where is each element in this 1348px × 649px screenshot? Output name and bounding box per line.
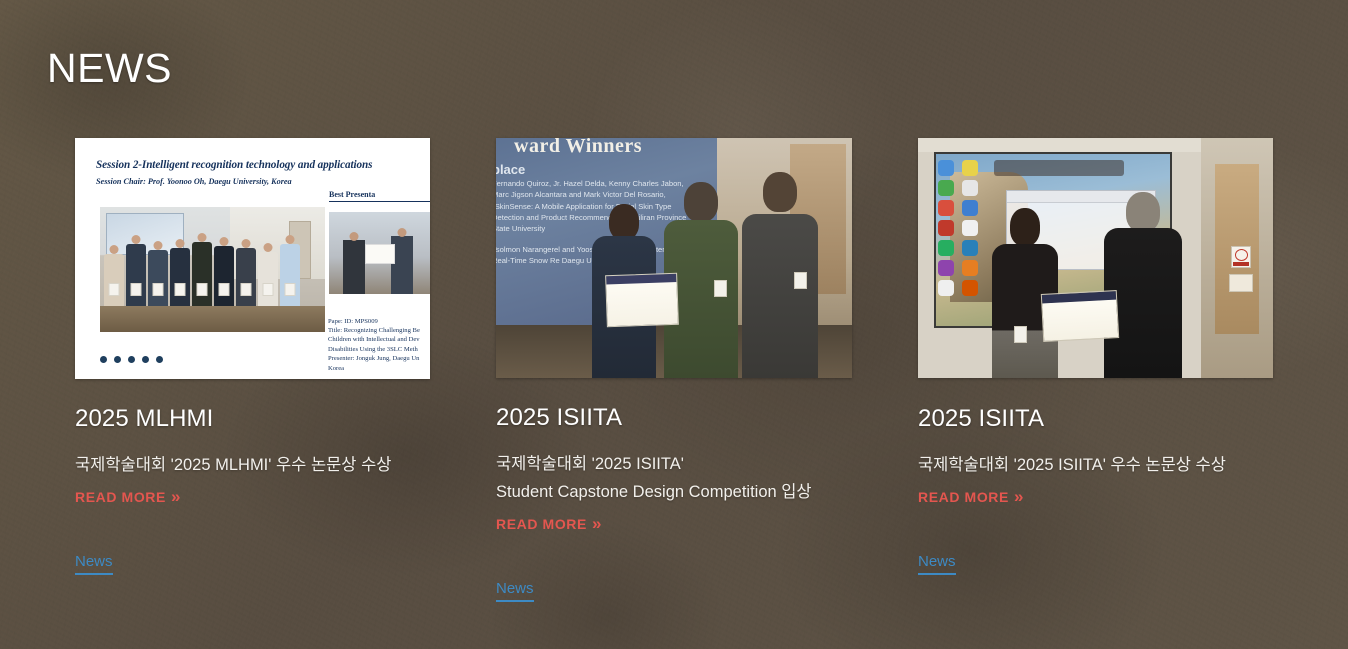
person [170,248,190,306]
carousel-dot[interactable] [100,356,107,363]
news-card-category-link[interactable]: News [918,552,956,575]
news-card-body: 2025 MLHMI 국제학술대회 '2025 MLHMI' 우수 논문상 수상… [75,404,430,575]
application-toolbar [994,160,1124,176]
person [126,244,146,306]
person-head [264,243,273,252]
news-card-description-line: Student Capstone Design Competition 입상 [496,478,852,506]
person [258,252,278,306]
read-more-link[interactable]: READ MORE » [918,488,1021,505]
desktop-icon [938,160,954,176]
conference-session-slide-image: Session 2-Intelligent recognition techno… [75,138,430,379]
read-more-link[interactable]: READ MORE » [75,488,178,505]
person-certificate [109,283,120,296]
news-page: NEWS Session 2-Intelligent recognition t… [0,0,1348,649]
no-entry-sign-icon [1231,246,1251,268]
projected-slide-title: ward Winners [514,138,642,158]
person-body [742,214,818,378]
read-more-label: READ MORE [918,489,1009,505]
name-badge [1014,326,1027,343]
news-card[interactable]: Session 2-Intelligent recognition techno… [75,138,430,379]
person-certificate [175,283,186,296]
desktop-icon [962,180,978,196]
news-card[interactable]: ward Winners place Fernando Quiroz, Jr. … [496,138,852,378]
desktop-icon [938,180,954,196]
desktop-icon [938,260,954,276]
best-presentation-heading: Best Presenta [329,190,430,202]
desktop-icon [962,240,978,256]
read-more-label: READ MORE [496,516,587,532]
paper-line: Korea [328,364,430,373]
person-head [198,233,207,242]
certificate-award-photo [918,138,1273,378]
desktop-icon [938,220,954,236]
news-card-thumbnail[interactable] [918,138,1273,378]
news-card[interactable]: 2025 ISIITA 국제학술대회 '2025 ISIITA' 우수 논문상 … [918,138,1273,378]
best-presentation-block: Best Presenta [325,190,430,202]
person-head [286,235,295,244]
person [104,254,124,306]
person-certificate [131,283,142,296]
person [148,250,168,306]
projected-place-label: place [496,164,692,175]
news-card-title: 2025 ISIITA [496,403,852,433]
person-head [350,232,359,241]
person [280,244,300,306]
news-card-body: 2025 ISIITA 국제학술대회 '2025 ISIITA' Student… [496,403,852,602]
desktop-icon [962,260,978,276]
person-head [398,228,407,237]
desktop-icon [938,200,954,216]
desktop-icon [962,200,978,216]
paper-detail-lines: Pape: ID: MPS009 Title: Recognizing Chal… [324,317,430,373]
double-chevron-right-icon: » [592,515,599,532]
person-certificate [263,283,274,296]
name-badge [714,280,727,297]
read-more-link[interactable]: READ MORE » [496,515,599,532]
paper-line: Pape: ID: MPS009 [328,317,430,326]
paper-line: Children with Intellectual and Dev [328,335,430,344]
person-certificate [197,283,208,296]
person-certificate [219,283,230,296]
double-chevron-right-icon: » [171,488,178,505]
slide-title: Session 2-Intelligent recognition techno… [96,159,426,171]
certificate [605,273,679,327]
name-badge [794,272,807,289]
person [214,246,234,306]
person-certificate [285,283,296,296]
news-card-title: 2025 ISIITA [918,404,1273,434]
desktop-icon [962,160,978,176]
person [343,240,365,294]
person-head [110,245,119,254]
front-table [100,306,325,332]
person-head [132,235,141,244]
person-head [242,239,251,248]
certificate [1041,290,1119,342]
news-card-description-line: 국제학술대회 '2025 ISIITA' 우수 논문상 수상 [918,451,1273,479]
news-card-category-link[interactable]: News [496,579,534,602]
person [992,206,1058,378]
person-certificate [153,283,164,296]
person [742,174,818,378]
person-head [609,204,639,240]
certificate [365,244,395,264]
person [192,242,212,306]
person [236,248,256,306]
news-card-description-line: 국제학술대회 '2025 ISIITA' [496,450,852,478]
news-card-thumbnail[interactable]: Session 2-Intelligent recognition techno… [75,138,430,379]
carousel-dot[interactable] [128,356,135,363]
desktop-icon-grid [938,160,984,296]
news-card-body: 2025 ISIITA 국제학술대회 '2025 ISIITA' 우수 논문상 … [918,404,1273,575]
award-ceremony-photo: ward Winners place Fernando Quiroz, Jr. … [496,138,852,378]
desktop-icon [962,220,978,236]
slide-subtitle: Session Chair: Prof. Yoonoo Oh, Daegu Un… [96,177,396,186]
carousel-dot[interactable] [114,356,121,363]
page-title: NEWS [47,44,172,93]
person-head [154,241,163,250]
double-chevron-right-icon: » [1014,488,1021,505]
paper-line: Disabilities Using the 3SLC Meth [328,345,430,354]
person-head [1126,192,1160,232]
news-card-description-line: 국제학술대회 '2025 MLHMI' 우수 논문상 수상 [75,451,430,479]
news-card-category-link[interactable]: News [75,552,113,575]
group-photo [100,207,325,332]
read-more-label: READ MORE [75,489,166,505]
notice-paper [1229,274,1253,292]
person-head [176,239,185,248]
person-head [763,172,797,212]
best-presentation-photo [329,212,430,294]
paper-line: Presenter: Jonguk Jung, Daegu Un [328,354,430,363]
news-card-thumbnail[interactable]: ward Winners place Fernando Quiroz, Jr. … [496,138,852,378]
desktop-icon [938,280,954,296]
paper-line: Title: Recognizing Challenging Be [328,326,430,335]
carousel-dot[interactable] [156,356,163,363]
person-head [1010,208,1040,246]
desktop-icon [962,280,978,296]
carousel-dot[interactable] [142,356,149,363]
desktop-icon [938,240,954,256]
carousel-dots[interactable] [100,356,163,363]
person-certificate [241,283,252,296]
person [1104,192,1182,378]
person-head [220,237,229,246]
news-card-title: 2025 MLHMI [75,404,430,434]
person-head [684,182,718,222]
